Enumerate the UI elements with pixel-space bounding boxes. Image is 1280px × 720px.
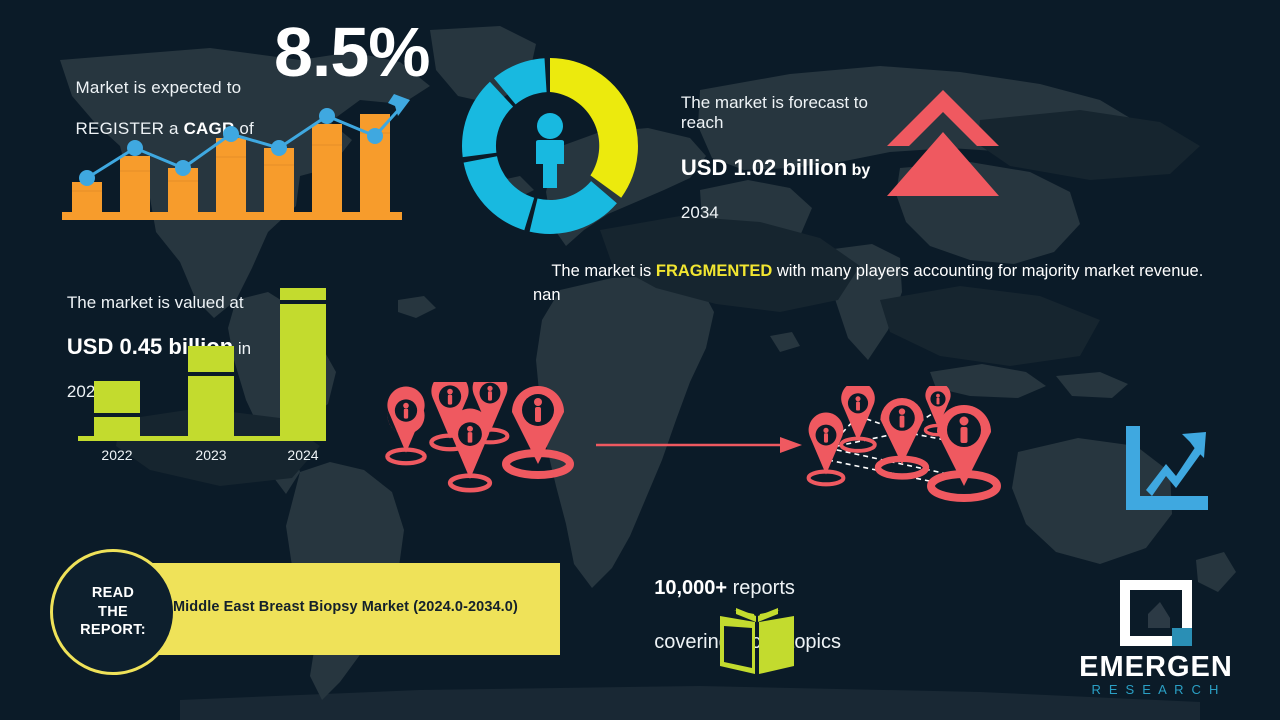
growth-trend-chart: [62, 86, 414, 226]
emergen-research-logo: EMERGEN R E S E A R C H: [1052, 574, 1260, 698]
forecast-line2: reach: [681, 113, 724, 132]
forecast-by-label: by: [847, 162, 870, 179]
report-title[interactable]: Middle East Breast Biopsy Market (2024.0…: [173, 599, 563, 615]
open-book-icon: [716, 608, 798, 676]
fragmentation-pre: The market is: [551, 262, 656, 280]
line-chart-icon: [1122, 424, 1210, 514]
forecast-year: 2034: [681, 203, 719, 222]
cta-line2: THE: [98, 604, 128, 620]
map-pin-person-icon: [809, 413, 844, 485]
logo-subtitle: R E S E A R C H: [1091, 682, 1220, 697]
map-pin-person-icon: [841, 386, 875, 451]
fragmentation-keyword: FRAGMENTED: [656, 262, 772, 280]
logo-name: EMERGEN: [1079, 651, 1233, 683]
map-pin-person-icon: [931, 405, 997, 498]
reports-count: 10,000+: [654, 577, 727, 599]
bar-label-2023: 2023: [195, 447, 226, 463]
infographic-canvas: Market is expected to REGISTER a CAGR of…: [0, 0, 1280, 720]
forecast-block: The market is forecast to reach USD 1.02…: [662, 72, 912, 244]
cta-line1: READ: [92, 585, 134, 601]
map-pins-networked: [806, 386, 1014, 504]
bar-label-2022: 2022: [101, 447, 132, 463]
bar-label-2024: 2024: [287, 447, 318, 463]
fragmentation-statement: The market is FRAGMENTED with many playe…: [533, 236, 1213, 332]
read-the-report-label: READTHEREPORT:: [80, 584, 146, 640]
cta-line3: REPORT:: [80, 622, 146, 638]
market-share-donut: [452, 48, 648, 244]
cagr-value: 8.5%: [274, 10, 430, 95]
right-arrow-icon: [596, 434, 802, 456]
reports-line1-rest: reports: [727, 577, 795, 599]
double-chevron-up-icon: [885, 88, 1001, 200]
forecast-value: USD 1.02 billion: [681, 155, 847, 180]
market-value-bar-chart: 2022 2023 2024: [78, 288, 340, 470]
bar-2023: [188, 346, 234, 436]
forecast-line1: The market is forecast to: [681, 93, 868, 112]
map-pins-scattered: [382, 382, 592, 496]
read-the-report-button[interactable]: READTHEREPORT:: [50, 549, 176, 675]
logo-mark-icon: [1120, 580, 1192, 646]
map-pin-person-icon: [387, 387, 424, 464]
bar-2022: [94, 381, 140, 436]
person-icon: [536, 113, 564, 188]
map-pin-person-icon: [506, 386, 570, 475]
bar-2024: [280, 288, 326, 436]
